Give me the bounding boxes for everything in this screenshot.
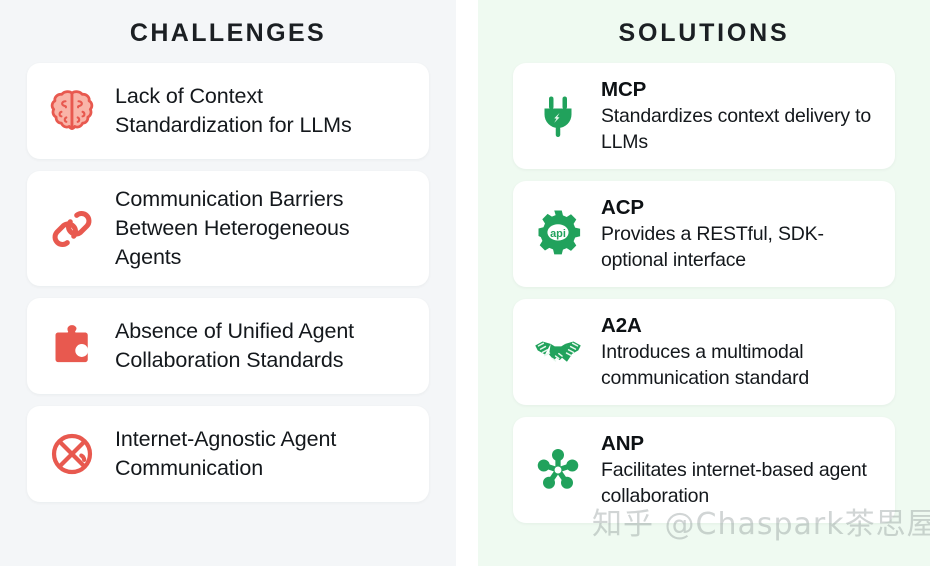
solutions-card-list: MCP Standardizes context delivery to LLM… <box>513 63 895 523</box>
challenge-card-body: Communication Barriers Between Heterogen… <box>115 185 411 272</box>
solution-card-body: ACP Provides a RESTful, SDK-optional int… <box>601 195 877 273</box>
challenge-text: Internet-Agnostic Agent Communication <box>115 425 411 483</box>
puzzle-piece-icon <box>43 317 101 375</box>
solution-desc: Standardizes context delivery to LLMs <box>601 103 877 155</box>
solution-name: ANP <box>601 431 877 456</box>
gear-icon-label: api <box>550 228 566 240</box>
solutions-panel-title: SOLUTIONS <box>513 0 895 48</box>
solution-name: ACP <box>601 195 877 220</box>
solution-name: MCP <box>601 77 877 102</box>
challenge-card-body: Absence of Unified Agent Collaboration S… <box>115 317 411 375</box>
challenges-card-list: Lack of Context Standardization for LLMs… <box>27 63 429 502</box>
challenge-card-lack-of-context[interactable]: Lack of Context Standardization for LLMs <box>27 63 429 159</box>
solution-card-a2a[interactable]: A2A Introduces a multimodal communicatio… <box>513 299 895 405</box>
solution-desc: Introduces a multimodal communication st… <box>601 339 877 391</box>
brain-icon <box>43 82 101 140</box>
challenge-text: Lack of Context Standardization for LLMs <box>115 82 411 140</box>
challenge-card-body: Lack of Context Standardization for LLMs <box>115 82 411 140</box>
challenge-text: Absence of Unified Agent Collaboration S… <box>115 317 411 375</box>
solution-card-body: MCP Standardizes context delivery to LLM… <box>601 77 877 155</box>
gear-api-icon: api <box>529 205 587 263</box>
challenges-panel: CHALLENGES <box>0 0 456 566</box>
solution-card-body: A2A Introduces a multimodal communicatio… <box>601 313 877 391</box>
solution-card-body: ANP Facilitates internet-based agent col… <box>601 431 877 509</box>
network-hub-icon <box>529 441 587 499</box>
panel-divider <box>456 0 478 566</box>
challenge-card-communication-barriers[interactable]: Communication Barriers Between Heterogen… <box>27 171 429 286</box>
solution-desc: Facilitates internet-based agent collabo… <box>601 457 877 509</box>
challenge-card-internet-agnostic[interactable]: Internet-Agnostic Agent Communication <box>27 406 429 502</box>
challenge-card-absence-of-standards[interactable]: Absence of Unified Agent Collaboration S… <box>27 298 429 394</box>
solution-desc: Provides a RESTful, SDK-optional interfa… <box>601 221 877 273</box>
power-plug-icon <box>529 87 587 145</box>
challenge-text: Communication Barriers Between Heterogen… <box>115 185 411 272</box>
solutions-panel: SOLUTIONS MCP Stan <box>478 0 930 566</box>
solution-card-acp[interactable]: api ACP Provides a RESTful, SDK-optional… <box>513 181 895 287</box>
solution-card-anp[interactable]: ANP Facilitates internet-based agent col… <box>513 417 895 523</box>
challenges-panel-title: CHALLENGES <box>27 0 429 48</box>
no-internet-icon <box>43 425 101 483</box>
chain-link-icon <box>43 200 101 258</box>
solution-name: A2A <box>601 313 877 338</box>
handshake-icon <box>529 323 587 381</box>
comparison-infographic: CHALLENGES <box>0 0 930 566</box>
solution-card-mcp[interactable]: MCP Standardizes context delivery to LLM… <box>513 63 895 169</box>
challenge-card-body: Internet-Agnostic Agent Communication <box>115 425 411 483</box>
